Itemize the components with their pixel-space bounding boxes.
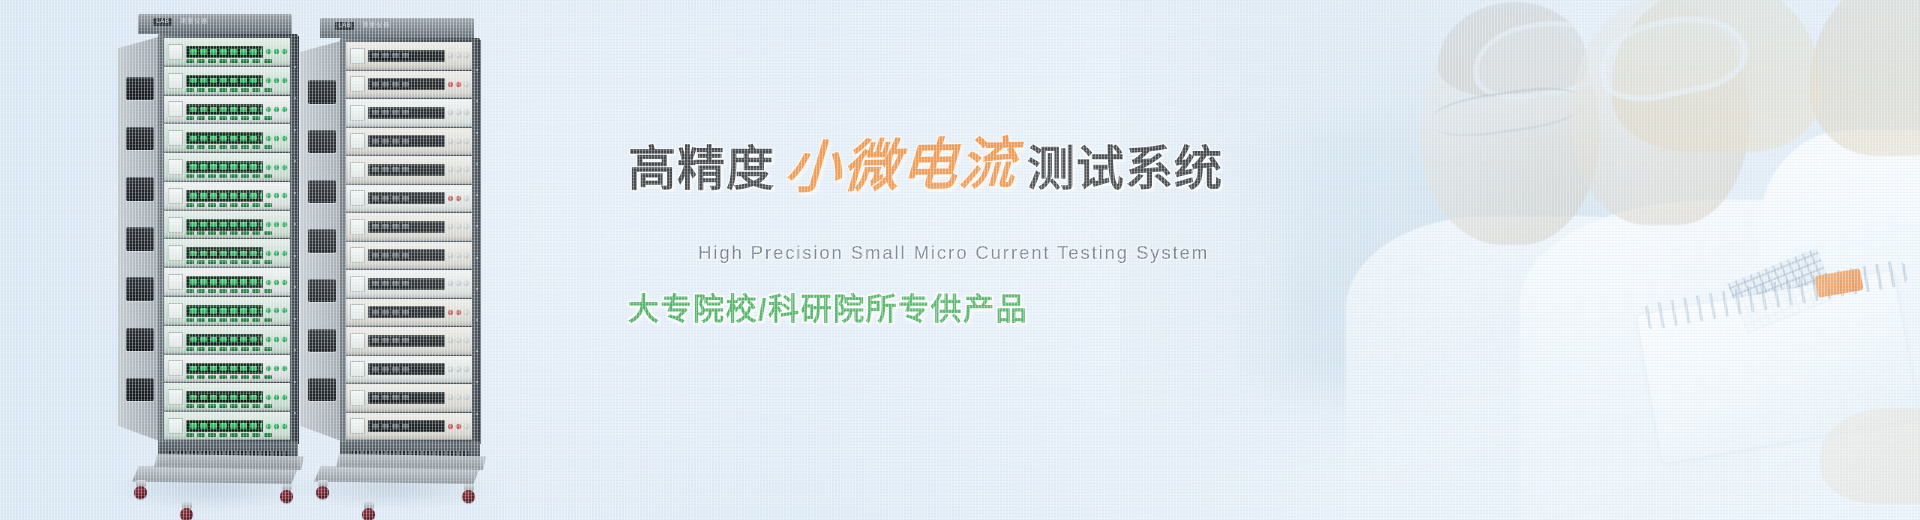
instrument-button[interactable]	[266, 165, 271, 170]
rack-caster	[180, 508, 193, 520]
instrument-terminal	[197, 203, 205, 207]
rack-vent-slot	[126, 227, 153, 250]
instrument-terminal	[241, 404, 249, 408]
instrument-button[interactable]	[282, 136, 287, 141]
instrument-terminal	[264, 145, 272, 149]
instrument-button-group[interactable]	[448, 196, 471, 201]
instrument-terminal-row	[186, 174, 272, 178]
instrument-terminal	[197, 375, 205, 379]
instrument-button[interactable]	[274, 165, 279, 170]
instrument-terminal	[241, 145, 249, 149]
instrument-display-segment	[392, 395, 399, 400]
instrument-terminal-row	[186, 116, 272, 120]
rack-instrument-unit[interactable]	[346, 356, 474, 384]
instrument-rack-left: LAB 测量仪器	[118, 14, 298, 514]
instrument-button-group[interactable]	[448, 338, 471, 343]
instrument-button-group[interactable]	[448, 310, 471, 315]
instrument-button-group[interactable]	[266, 78, 289, 83]
rack-instrument-unit[interactable]	[346, 156, 474, 184]
instrument-button[interactable]	[274, 222, 279, 227]
instrument-display-segment	[210, 193, 217, 198]
instrument-button-group[interactable]	[266, 222, 289, 227]
instrument-button[interactable]	[448, 139, 453, 144]
instrument-terminal	[230, 289, 238, 293]
instrument-display-segment	[200, 251, 207, 256]
instrument-display	[186, 46, 263, 58]
rack-instrument-unit[interactable]	[164, 355, 292, 383]
instrument-display-segment	[382, 167, 389, 172]
instrument-display-segment	[402, 196, 409, 201]
instrument-label-plate	[168, 159, 183, 175]
instrument-label-plate	[168, 245, 183, 261]
rack-instrument-unit[interactable]	[164, 268, 292, 296]
instrument-button[interactable]	[456, 224, 461, 229]
instrument-display-segment	[402, 110, 409, 115]
instrument-terminal	[186, 203, 194, 207]
instrument-display	[368, 221, 445, 233]
instrument-display-segment	[210, 337, 217, 342]
rack-instrument-unit[interactable]	[346, 99, 474, 127]
instrument-display-segment	[382, 139, 389, 144]
instrument-display-segment	[210, 107, 217, 112]
instrument-terminal-row	[186, 145, 272, 149]
instrument-button-group[interactable]	[266, 280, 289, 285]
instrument-display	[368, 107, 445, 119]
instrument-button[interactable]	[282, 193, 287, 198]
instrument-display	[186, 104, 263, 116]
instrument-button[interactable]	[464, 281, 469, 286]
instrument-button[interactable]	[456, 53, 461, 58]
rack-vent-slot	[126, 177, 153, 200]
instrument-button-group[interactable]	[448, 424, 471, 429]
instrument-button-group[interactable]	[266, 366, 289, 371]
instrument-label-plate	[168, 274, 183, 290]
instrument-display-segment	[372, 224, 379, 229]
instrument-button-group[interactable]	[266, 193, 289, 198]
instrument-button[interactable]	[266, 280, 271, 285]
instrument-terminal-row	[186, 231, 272, 235]
instrument-display	[186, 247, 263, 259]
instrument-button-group[interactable]	[266, 308, 289, 313]
instrument-button[interactable]	[266, 222, 271, 227]
instrument-display-segment	[230, 308, 237, 313]
instrument-button[interactable]	[274, 78, 279, 83]
instrument-display-segment	[250, 78, 257, 83]
instrument-terminal	[186, 347, 194, 351]
rack-caster	[362, 508, 375, 520]
instrument-label-plate	[350, 304, 365, 320]
instrument-button[interactable]	[448, 82, 453, 87]
instrument-terminal	[252, 116, 260, 120]
instrument-button-group[interactable]	[448, 281, 471, 286]
instrument-terminal	[197, 404, 205, 408]
instrument-button[interactable]	[282, 107, 287, 112]
instrument-button-group[interactable]	[266, 136, 289, 141]
instrument-terminal	[241, 289, 249, 293]
instrument-button[interactable]	[266, 193, 271, 198]
instrument-terminal	[186, 174, 194, 178]
instrument-display-segment	[402, 310, 409, 315]
rack-instrument-unit[interactable]	[346, 413, 474, 441]
instrument-button-group[interactable]	[448, 110, 471, 115]
instrument-display-segment	[250, 308, 257, 313]
instrument-button-group[interactable]	[448, 253, 471, 258]
instrument-display-segment	[260, 395, 263, 400]
instrument-display-segment	[260, 366, 263, 371]
instrument-button[interactable]	[282, 395, 287, 400]
rack-side-panel	[300, 40, 344, 442]
instrument-display-segment	[190, 395, 197, 400]
instrument-terminal	[219, 404, 227, 408]
rack-instrument-unit[interactable]	[164, 96, 292, 124]
banner-headline: 高精度 小微电流 测试系统	[628, 138, 1223, 194]
instrument-terminal	[264, 375, 272, 379]
instrument-terminal	[219, 433, 227, 437]
instrument-display-segment	[220, 279, 227, 284]
instrument-display-segment	[260, 337, 263, 342]
instrument-button-group[interactable]	[448, 167, 471, 172]
rack-instrument-unit[interactable]	[346, 242, 474, 270]
instrument-button-group[interactable]	[266, 337, 289, 342]
instrument-terminal	[208, 59, 216, 63]
instrument-button[interactable]	[274, 136, 279, 141]
instrument-terminal	[186, 116, 194, 120]
instrument-display-segment	[230, 251, 237, 256]
instrument-display-segment	[392, 53, 399, 58]
instrument-terminal	[208, 289, 216, 293]
instrument-button-group[interactable]	[266, 49, 289, 54]
instrument-display-segment	[210, 366, 217, 371]
instrument-display-segment	[210, 136, 217, 141]
instrument-display-segment	[402, 224, 409, 229]
instrument-terminal	[208, 116, 216, 120]
instrument-button[interactable]	[282, 337, 287, 342]
instrument-button[interactable]	[464, 367, 469, 372]
rack-instrument-unit[interactable]	[346, 185, 474, 213]
rack-instrument-unit[interactable]	[164, 239, 292, 267]
instrument-button[interactable]	[274, 49, 279, 54]
instrument-button[interactable]	[456, 367, 461, 372]
instrument-terminal	[219, 289, 227, 293]
instrument-button-group[interactable]	[448, 53, 471, 58]
instrument-terminal	[264, 260, 272, 264]
rack-instrument-unit[interactable]	[164, 124, 292, 152]
instrument-button[interactable]	[282, 222, 287, 227]
instrument-button[interactable]	[282, 49, 287, 54]
instrument-button[interactable]	[282, 165, 287, 170]
instrument-display-segment	[260, 308, 263, 313]
instrument-terminal	[252, 231, 260, 235]
instrument-button[interactable]	[456, 82, 461, 87]
instrument-button[interactable]	[266, 251, 271, 256]
instrument-display-segment	[382, 395, 389, 400]
rack-instrument-unit[interactable]	[164, 211, 292, 239]
instrument-terminal	[252, 318, 260, 322]
instrument-button-group[interactable]	[266, 395, 289, 400]
rack-instrument-unit[interactable]	[164, 326, 292, 354]
instrument-label-plate	[350, 247, 365, 263]
instrument-display-segment	[200, 193, 207, 198]
instrument-display-segment	[210, 78, 217, 83]
instrument-terminal	[208, 433, 216, 437]
instrument-button[interactable]	[282, 424, 287, 429]
instrument-button-group[interactable]	[266, 424, 289, 429]
instrument-button[interactable]	[464, 224, 469, 229]
instrument-display-segment	[250, 193, 257, 198]
instrument-button[interactable]	[448, 338, 453, 343]
instrument-display-segment	[240, 49, 247, 54]
instrument-button[interactable]	[448, 310, 453, 315]
rack-instrument-unit[interactable]	[164, 297, 292, 325]
instrument-button-group[interactable]	[448, 395, 471, 400]
instrument-button[interactable]	[456, 395, 461, 400]
instrument-display-segment	[382, 338, 389, 343]
rack-rail-screws	[472, 40, 481, 444]
instrument-button[interactable]	[456, 424, 461, 429]
rack-instrument-unit[interactable]	[164, 383, 292, 411]
instrument-display	[186, 219, 263, 231]
instrument-button[interactable]	[448, 281, 453, 286]
instrument-terminal	[230, 404, 238, 408]
instrument-button[interactable]	[274, 395, 279, 400]
instrument-button[interactable]	[274, 107, 279, 112]
headline-accent: 小微电流	[775, 135, 1026, 196]
instrument-button[interactable]	[464, 53, 469, 58]
instrument-button[interactable]	[448, 167, 453, 172]
instrument-terminal	[208, 145, 216, 149]
instrument-display-segment	[372, 82, 379, 87]
rack-side-panel	[118, 36, 162, 442]
instrument-display-segment	[190, 49, 197, 54]
rack-caster	[280, 490, 293, 503]
instrument-button[interactable]	[282, 308, 287, 313]
instrument-display	[186, 420, 263, 432]
instrument-button[interactable]	[282, 366, 287, 371]
instrument-terminal	[241, 231, 249, 235]
instrument-display-segment	[250, 251, 257, 256]
instrument-label-plate	[168, 217, 183, 233]
instrument-display-segment	[382, 224, 389, 229]
instrument-button[interactable]	[266, 395, 271, 400]
rack-instrument-unit[interactable]	[164, 67, 292, 95]
instrument-terminal-row	[186, 88, 272, 92]
instrument-label-plate	[168, 130, 183, 146]
instrument-button-group[interactable]	[266, 107, 289, 112]
instrument-display-segment	[240, 366, 247, 371]
instrument-display-segment	[402, 395, 409, 400]
instrument-button-group[interactable]	[448, 139, 471, 144]
instrument-terminal	[252, 203, 260, 207]
instrument-display-segment	[392, 224, 399, 229]
rack-caster	[134, 486, 147, 499]
instrument-button[interactable]	[448, 196, 453, 201]
rack-instrument-unit[interactable]	[346, 384, 474, 412]
instrument-button[interactable]	[266, 49, 271, 54]
instrument-display-segment	[210, 423, 217, 428]
instrument-button[interactable]	[464, 110, 469, 115]
instrument-button[interactable]	[456, 338, 461, 343]
instrument-button[interactable]	[464, 395, 469, 400]
instrument-button[interactable]	[456, 253, 461, 258]
instrument-terminal	[208, 318, 216, 322]
instrument-terminal	[252, 260, 260, 264]
rack-instrument-unit[interactable]	[164, 182, 292, 210]
instrument-display-segment	[230, 279, 237, 284]
rack-instrument-unit[interactable]	[346, 128, 474, 156]
rack-vent-slot	[126, 77, 153, 100]
rack-instrument-unit[interactable]	[346, 270, 474, 298]
instrument-button[interactable]	[266, 78, 271, 83]
instrument-display	[368, 420, 445, 432]
instrument-button[interactable]	[448, 53, 453, 58]
rack-instrument-unit[interactable]	[346, 213, 474, 241]
instrument-display	[368, 363, 445, 375]
instrument-display-segment	[402, 167, 409, 172]
rack-vent-slot	[308, 279, 335, 302]
rack-instrument-unit[interactable]	[164, 153, 292, 181]
instrument-button[interactable]	[266, 136, 271, 141]
instrument-button[interactable]	[464, 196, 469, 201]
instrument-button-group[interactable]	[266, 165, 289, 170]
instrument-display-segment	[190, 107, 197, 112]
instrument-display-segment	[190, 337, 197, 342]
rack-vent-slot	[308, 180, 335, 203]
instrument-terminal	[230, 145, 238, 149]
instrument-display-segment	[240, 164, 247, 169]
instrument-display	[368, 392, 445, 404]
instrument-display-segment	[260, 251, 263, 256]
instrument-button[interactable]	[448, 424, 453, 429]
instrument-button[interactable]	[456, 167, 461, 172]
instrument-button[interactable]	[266, 424, 271, 429]
instrument-button[interactable]	[266, 107, 271, 112]
instrument-button[interactable]	[448, 367, 453, 372]
instrument-button[interactable]	[448, 253, 453, 258]
instrument-button-group[interactable]	[448, 224, 471, 229]
instrument-button[interactable]	[464, 338, 469, 343]
rack-instrument-unit[interactable]	[164, 412, 292, 440]
instrument-button[interactable]	[456, 139, 461, 144]
instrument-button[interactable]	[448, 224, 453, 229]
instrument-button-group[interactable]	[448, 82, 471, 87]
instrument-terminal	[186, 289, 194, 293]
instrument-display-segment	[210, 395, 217, 400]
instrument-display-segment	[392, 139, 399, 144]
instrument-label-plate	[350, 390, 365, 406]
instrument-display-segment	[230, 49, 237, 54]
instrument-button-group[interactable]	[448, 367, 471, 372]
instrument-display-segment	[372, 110, 379, 115]
instrument-terminal	[264, 347, 272, 351]
instrument-button[interactable]	[266, 308, 271, 313]
rack-brand-mark: LAB	[153, 18, 172, 26]
instrument-terminal	[197, 88, 205, 92]
instrument-button[interactable]	[274, 424, 279, 429]
instrument-button[interactable]	[464, 139, 469, 144]
instrument-label-plate	[350, 76, 365, 92]
instrument-terminal	[241, 318, 249, 322]
instrument-display	[368, 249, 445, 261]
instrument-button[interactable]	[456, 310, 461, 315]
rack-instrument-unit[interactable]	[346, 327, 474, 355]
instrument-button[interactable]	[274, 366, 279, 371]
instrument-terminal	[230, 88, 238, 92]
instrument-terminal	[197, 116, 205, 120]
instrument-terminal	[186, 318, 194, 322]
instrument-terminal	[208, 174, 216, 178]
instrument-label-plate	[350, 333, 365, 349]
instrument-button[interactable]	[448, 395, 453, 400]
instrument-display-segment	[372, 167, 379, 172]
instrument-display-segment	[382, 424, 389, 429]
instrument-terminal	[230, 231, 238, 235]
instrument-display-segment	[210, 251, 217, 256]
instrument-button[interactable]	[456, 196, 461, 201]
instrument-button[interactable]	[274, 308, 279, 313]
rack-instrument-unit[interactable]	[346, 71, 474, 99]
instrument-display-segment	[372, 253, 379, 258]
instrument-display	[186, 305, 263, 317]
instrument-label-plate	[168, 188, 183, 204]
instrument-terminal	[264, 318, 272, 322]
banner-subtitle-english: High Precision Small Micro Current Testi…	[698, 242, 1209, 264]
rack-caster	[316, 486, 329, 499]
instrument-display-segment	[210, 49, 217, 54]
instrument-button[interactable]	[274, 280, 279, 285]
instrument-button[interactable]	[274, 337, 279, 342]
rack-instrument-unit[interactable]	[164, 38, 292, 66]
instrument-button[interactable]	[282, 251, 287, 256]
instrument-display-segment	[392, 310, 399, 315]
instrument-display-segment	[372, 395, 379, 400]
instrument-button[interactable]	[274, 251, 279, 256]
instrument-label-plate	[350, 48, 365, 64]
instrument-terminal	[241, 260, 249, 264]
instrument-button-group[interactable]	[266, 251, 289, 256]
banner-subtitle-chinese: 大专院校/科研院所专供产品	[628, 284, 1028, 329]
instrument-display-segment	[240, 251, 247, 256]
instrument-button[interactable]	[464, 253, 469, 258]
rack-instrument-unit[interactable]	[346, 299, 474, 327]
instrument-terminal	[219, 318, 227, 322]
instrument-button[interactable]	[464, 310, 469, 315]
instrument-display-segment	[372, 281, 379, 286]
instrument-button[interactable]	[266, 337, 271, 342]
instrument-button[interactable]	[274, 193, 279, 198]
instrument-button[interactable]	[464, 82, 469, 87]
instrument-terminal	[186, 260, 194, 264]
instrument-button[interactable]	[282, 280, 287, 285]
instrument-display-segment	[372, 53, 379, 58]
instrument-display-segment	[260, 423, 263, 428]
instrument-button[interactable]	[464, 424, 469, 429]
instrument-button[interactable]	[448, 110, 453, 115]
instrument-button[interactable]	[266, 366, 271, 371]
rack-instrument-unit[interactable]	[346, 42, 474, 70]
instrument-button[interactable]	[456, 110, 461, 115]
instrument-button[interactable]	[282, 78, 287, 83]
instrument-display-segment	[230, 164, 237, 169]
instrument-display	[368, 135, 445, 147]
instrument-display-segment	[200, 308, 207, 313]
instrument-display-segment	[190, 423, 197, 428]
instrument-button[interactable]	[456, 281, 461, 286]
instrument-button[interactable]	[464, 167, 469, 172]
instrument-display-segment	[200, 366, 207, 371]
instrument-display-segment	[260, 49, 263, 54]
instrument-terminal	[241, 116, 249, 120]
instrument-display-segment	[260, 107, 263, 112]
